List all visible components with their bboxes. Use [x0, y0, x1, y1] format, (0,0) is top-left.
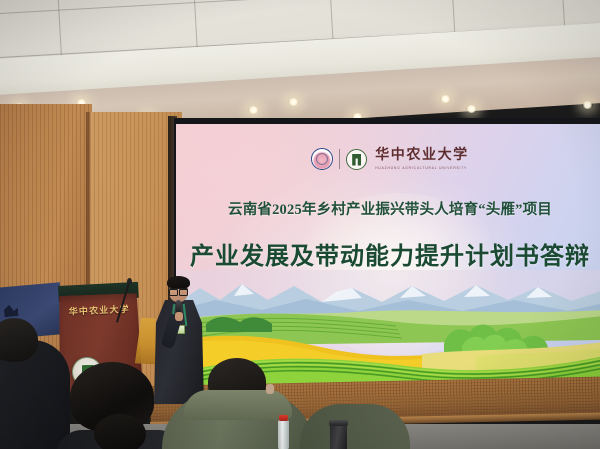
audience-hood: [184, 390, 292, 420]
projection-screen-frame: 华中农业大学 HUAZHONG AGRICULTURAL UNIVERSITY …: [174, 118, 600, 391]
slide-subtitle: 云南省2025年乡村产业振兴带头人培育“头雁”项目: [176, 198, 600, 219]
organization-name: 华中农业大学 HUAZHONG AGRICULTURAL UNIVERSITY: [375, 149, 469, 169]
circular-emblem-icon: [311, 148, 333, 170]
bottle-cap: [279, 415, 288, 421]
conference-photo: 华中农业大学 HUAZHONG AGRICULTURAL UNIVERSITY …: [0, 0, 600, 449]
thermos-lid: [329, 420, 348, 426]
organization-name-cn: 华中农业大学: [375, 149, 469, 164]
microphone-head-icon: [127, 278, 132, 285]
thermos-cup: [330, 424, 347, 449]
audience-member: [56, 362, 174, 449]
audience-ear: [266, 384, 274, 394]
university-seal-icon: [346, 149, 367, 170]
presentation-slide: 华中农业大学 HUAZHONG AGRICULTURAL UNIVERSITY …: [176, 124, 600, 388]
eyeglasses-icon: [169, 288, 188, 293]
audience-member: [300, 404, 410, 449]
slide-logo-row: 华中农业大学 HUAZHONG AGRICULTURAL UNIVERSITY: [176, 148, 600, 170]
slide-title: 产业发展及带动能力提升计划书答辩: [176, 236, 600, 271]
water-bottle: [278, 420, 289, 449]
logo-divider: [339, 149, 340, 169]
organization-name-en: HUAZHONG AGRICULTURAL UNIVERSITY: [375, 165, 469, 170]
audience-hair-bun: [94, 414, 146, 449]
presenter-hand: [175, 312, 183, 321]
